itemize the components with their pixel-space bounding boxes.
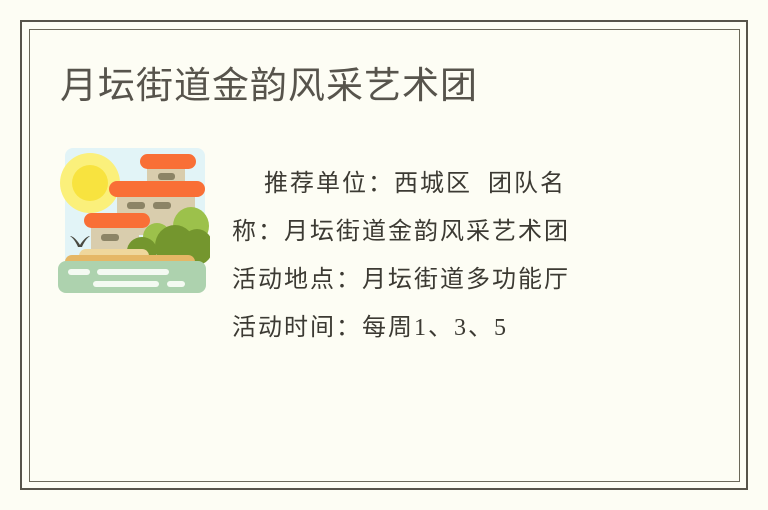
landscape-illustration	[55, 145, 210, 295]
water-line-1	[68, 269, 90, 275]
water-line-2	[97, 269, 169, 275]
sun-icon	[72, 165, 108, 201]
window-middle-left	[127, 202, 145, 209]
window-front	[101, 234, 119, 241]
window-back	[158, 173, 175, 180]
water-panel	[58, 261, 206, 293]
roof-front	[84, 213, 150, 228]
page-title: 月坛街道金韵风采艺术团	[60, 62, 478, 110]
bird-icon	[69, 235, 91, 249]
page-root: 月坛街道金韵风采艺术团 推荐单位：西城区 团队名称：月坛街道金韵风采艺	[0, 0, 768, 510]
window-middle-right	[153, 202, 171, 209]
water-line-4	[167, 281, 185, 287]
roof-back	[140, 154, 196, 169]
water-line-3	[93, 281, 159, 287]
team-detail-text: 推荐单位：西城区 团队名称：月坛街道金韵风采艺术团 活动地点：月坛街道多功能厅 …	[232, 160, 616, 352]
roof-middle	[109, 181, 205, 197]
